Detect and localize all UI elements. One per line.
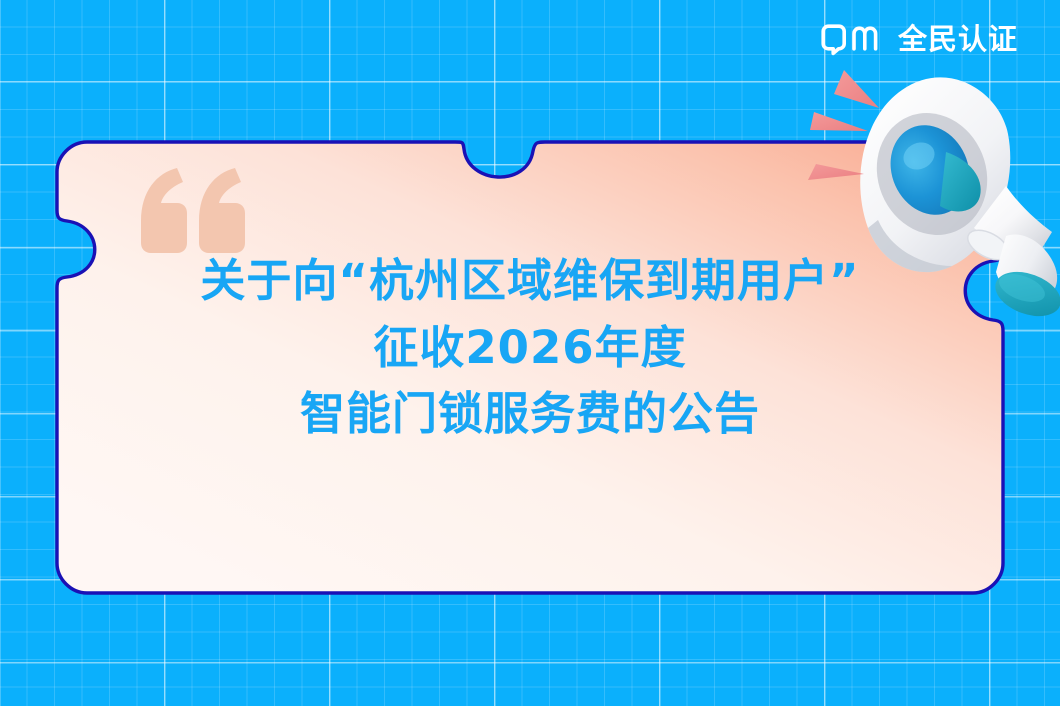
- speed-line-3: [808, 164, 864, 180]
- speed-lines-decoration: [806, 68, 926, 208]
- megaphone-handle: [996, 234, 1057, 302]
- brand-name-text: 全民认证: [898, 25, 1018, 54]
- headline-line-3: 智能门锁服务费的公告: [55, 381, 1005, 448]
- announcement-poster: 全民认证: [0, 0, 1060, 706]
- brand-logo[interactable]: 全民认证: [821, 22, 1018, 56]
- quotation-mark-icon: [133, 165, 253, 255]
- headline-line-1: 关于向“杭州区域维保到期用户”: [55, 248, 1005, 315]
- speed-line-1: [834, 70, 879, 108]
- headline-line-2: 征收2026年度: [55, 315, 1005, 382]
- qm-speech-bubble-logo-mark-icon: [821, 22, 887, 56]
- announcement-card: 关于向“杭州区域维保到期用户” 征收2026年度 智能门锁服务费的公告: [55, 140, 1005, 595]
- announcement-headline: 关于向“杭州区域维保到期用户” 征收2026年度 智能门锁服务费的公告: [55, 248, 1005, 448]
- speed-line-2: [810, 112, 868, 131]
